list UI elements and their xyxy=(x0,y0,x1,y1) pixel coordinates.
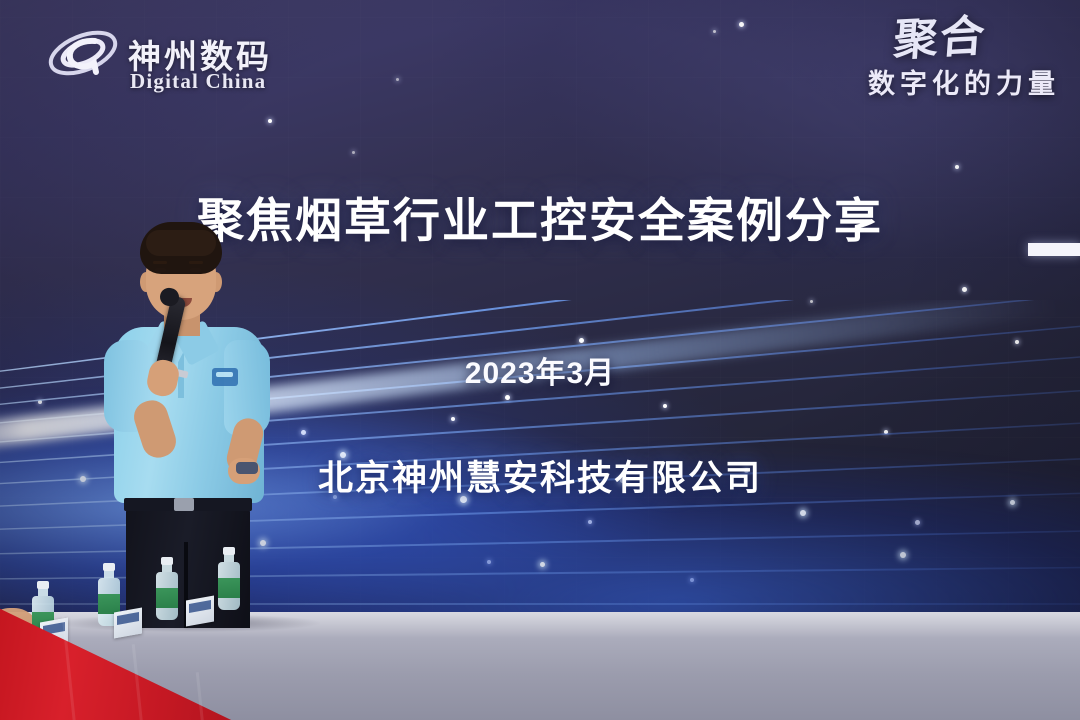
speaker-eyebrow-left xyxy=(153,261,167,264)
digital-china-logo: 神州数码 Digital China xyxy=(46,14,316,94)
name-card xyxy=(114,608,142,639)
galaxy-swirl-icon xyxy=(46,20,120,86)
speaker-eyebrow-right xyxy=(189,261,203,264)
foreground-table xyxy=(0,560,290,720)
campaign-calligraphy: 聚合 xyxy=(892,16,987,63)
speaker-eye-left xyxy=(155,268,166,272)
campaign-tagline: 数字化的力量 xyxy=(780,62,1060,101)
campaign-brand: 聚合 数字化的力量 xyxy=(780,18,1060,114)
name-card xyxy=(186,596,214,627)
screen-edge-accent xyxy=(1028,243,1080,256)
water-bottle xyxy=(218,548,240,610)
water-bottle xyxy=(156,558,178,620)
presentation-clicker-icon xyxy=(236,462,258,474)
speaker-belt-buckle xyxy=(174,498,194,511)
speaker-hair xyxy=(140,222,222,274)
presentation-photo: 神州数码 Digital China 聚合 数字化的力量 聚焦烟草行业工控安全案… xyxy=(0,0,1080,720)
speaker-eye-right xyxy=(190,268,201,272)
logo-english-name: Digital China xyxy=(130,69,266,94)
speaker-shirt-logo xyxy=(212,368,238,386)
